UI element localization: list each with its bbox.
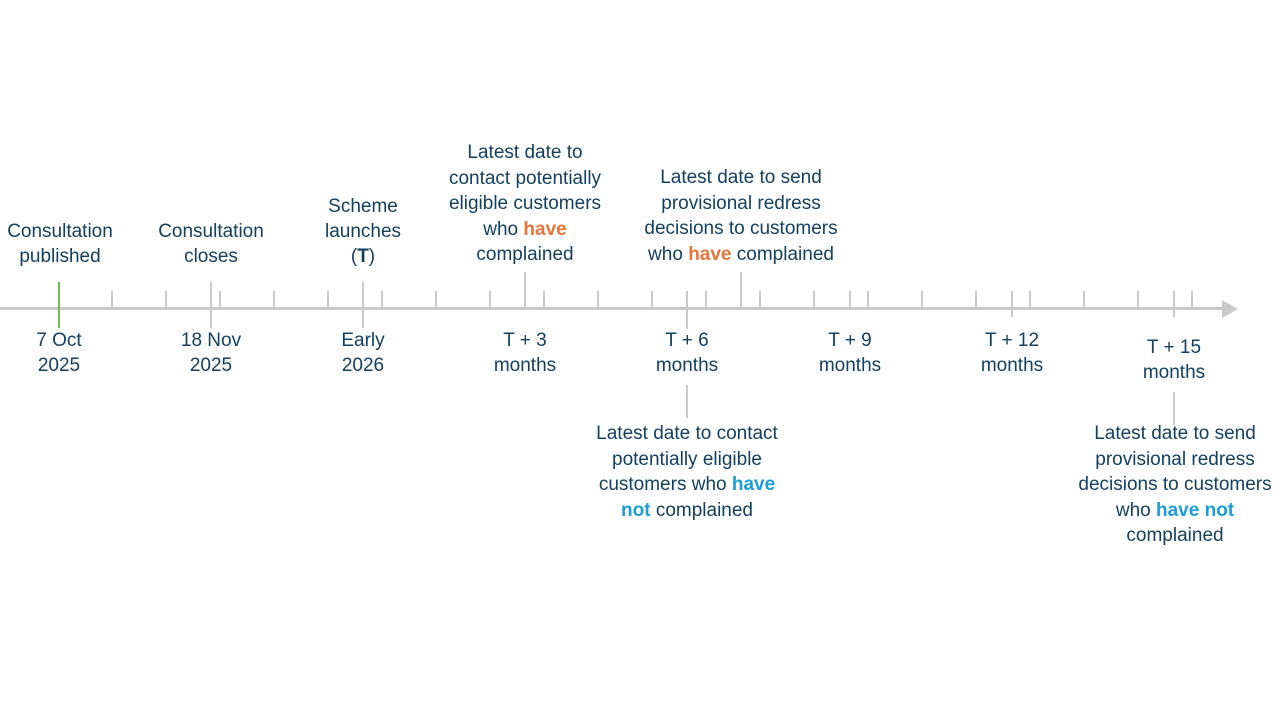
annotation-accent: have not <box>1156 500 1234 521</box>
marker-t-plus-12 <box>1011 291 1013 317</box>
axis-minor-tick <box>327 291 329 308</box>
marker-consultation-published <box>58 282 60 328</box>
timeline-diagram: Consultation published Consultation clos… <box>0 0 1280 720</box>
annotation-line: provisional redress <box>1064 447 1280 473</box>
axis-minor-tick <box>705 291 707 308</box>
node-title-consultation-published: Consultation published <box>0 219 120 269</box>
annotation-contact-have-not-complained: Latest date to contact potentially eligi… <box>578 421 796 523</box>
node-title-consultation-closes: Consultation closes <box>151 219 271 269</box>
node-title-scheme-launches-suffix: ) <box>369 246 375 267</box>
axis-minor-tick <box>273 291 275 308</box>
axis-minor-tick <box>165 291 167 308</box>
node-title-scheme-launches: Scheme launches (T) <box>303 194 423 269</box>
timeline-axis-line <box>0 307 1232 310</box>
annotation-line: who have <box>430 217 620 243</box>
axis-minor-tick <box>1029 291 1031 308</box>
annotation-line: decisions to customers <box>1064 472 1280 498</box>
annotation-line: decisions to customers <box>632 216 850 242</box>
annotation-line: provisional redress <box>632 191 850 217</box>
axis-minor-tick <box>489 291 491 308</box>
annotation-line: Latest date to <box>430 140 620 166</box>
annotation-text: complained <box>651 500 753 521</box>
axis-minor-tick <box>543 291 545 308</box>
axis-minor-tick <box>1137 291 1139 308</box>
axis-minor-tick <box>1083 291 1085 308</box>
marker-t-plus-15 <box>1173 291 1175 317</box>
annotation-line: who have not <box>1064 498 1280 524</box>
annotation-text: complained <box>732 244 834 265</box>
axis-minor-tick <box>975 291 977 308</box>
stem-t-plus-6-above <box>740 272 742 308</box>
axis-minor-tick <box>1191 291 1193 308</box>
node-date-t-plus-12: T + 12 months <box>952 328 1072 378</box>
node-date-consultation-closes: 18 Nov 2025 <box>151 328 271 378</box>
axis-minor-tick <box>111 291 113 308</box>
annotation-redress-have-not-complained: Latest date to send provisional redress … <box>1064 421 1280 549</box>
axis-minor-tick <box>381 291 383 308</box>
annotation-line: complained <box>430 242 620 268</box>
annotation-text: customers who <box>599 474 732 495</box>
annotation-line: potentially eligible <box>578 447 796 473</box>
annotation-text: who <box>1116 500 1156 521</box>
node-date-t-plus-6: T + 6 months <box>627 328 747 378</box>
annotation-text: who <box>648 244 688 265</box>
annotation-accent: not <box>621 500 651 521</box>
node-date-t-plus-15: T + 15 months <box>1114 335 1234 385</box>
annotation-accent: have <box>732 474 775 495</box>
node-date-t-plus-3: T + 3 months <box>465 328 585 378</box>
annotation-line: who have complained <box>632 242 850 268</box>
node-title-scheme-launches-t: T <box>357 246 369 267</box>
axis-minor-tick <box>597 291 599 308</box>
axis-minor-tick <box>813 291 815 308</box>
annotation-line: not complained <box>578 498 796 524</box>
node-date-scheme-launches: Early 2026 <box>303 328 423 378</box>
axis-minor-tick <box>435 291 437 308</box>
marker-t-plus-9 <box>849 291 851 308</box>
annotation-accent: have <box>523 219 566 240</box>
node-date-consultation-published: 7 Oct 2025 <box>0 328 119 378</box>
axis-minor-tick <box>219 291 221 308</box>
annotation-line: contact potentially <box>430 166 620 192</box>
node-date-t-plus-9: T + 9 months <box>790 328 910 378</box>
annotation-line: Latest date to send <box>632 165 850 191</box>
annotation-line: eligible customers <box>430 191 620 217</box>
stem-t-plus-3-above <box>524 272 526 308</box>
axis-minor-tick <box>867 291 869 308</box>
marker-scheme-launches <box>362 282 364 328</box>
marker-t-plus-6 <box>686 291 688 329</box>
annotation-line: Latest date to send <box>1064 421 1280 447</box>
axis-minor-tick <box>921 291 923 308</box>
annotation-accent: have <box>688 244 731 265</box>
annotation-redress-have-complained: Latest date to send provisional redress … <box>632 165 850 267</box>
annotation-line: Latest date to contact <box>578 421 796 447</box>
stem-t-plus-6-below <box>686 385 688 418</box>
marker-consultation-closes <box>210 282 212 328</box>
annotation-contact-have-complained: Latest date to contact potentially eligi… <box>430 140 620 268</box>
axis-minor-tick <box>759 291 761 308</box>
annotation-text: who <box>483 219 523 240</box>
axis-minor-tick <box>651 291 653 308</box>
annotation-line: complained <box>1064 523 1280 549</box>
annotation-line: customers who have <box>578 472 796 498</box>
timeline-axis-arrow-icon <box>1222 300 1238 318</box>
